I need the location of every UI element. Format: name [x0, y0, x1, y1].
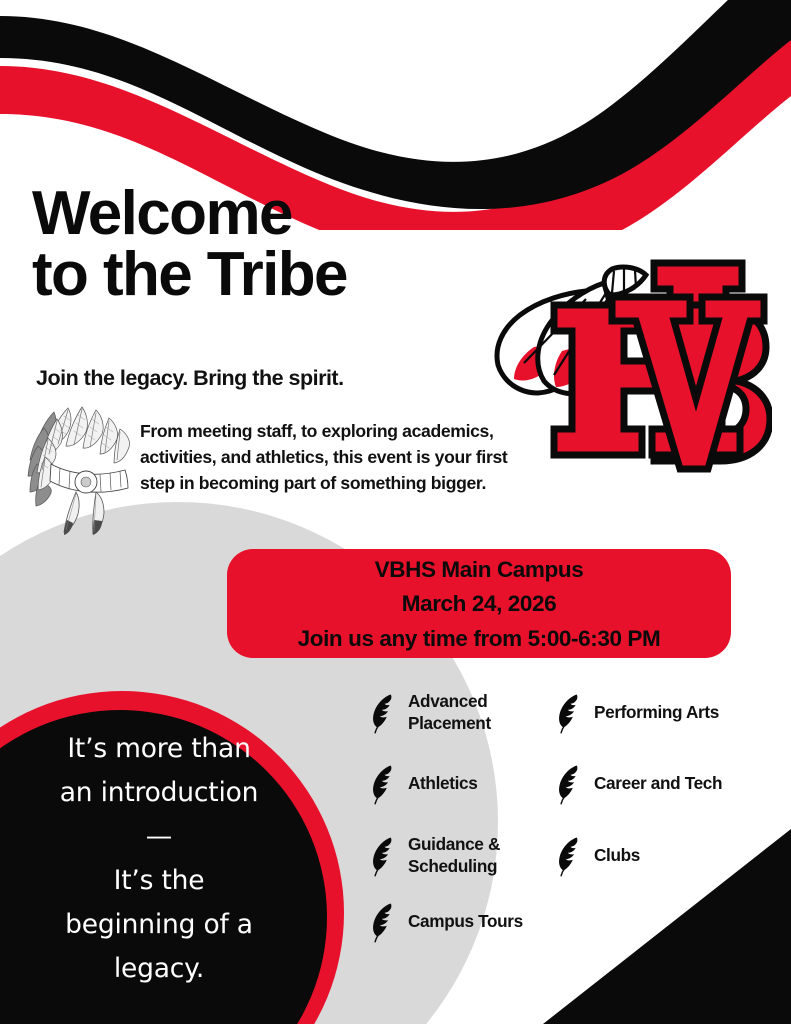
- body-paragraph: From meeting staff, to exploring academi…: [140, 419, 540, 497]
- feature-label: Performing Arts: [594, 702, 719, 724]
- quote-line-1: It’s more than: [0, 727, 324, 771]
- feature-item-athletics: Athletics: [370, 748, 556, 820]
- feature-label: Campus Tours: [408, 911, 523, 933]
- quote-line-2: an introduction: [0, 771, 324, 815]
- feather-icon: [556, 835, 586, 877]
- feature-row: Campus Tours: [370, 892, 782, 952]
- quote-line-4: beginning of a: [0, 903, 324, 947]
- event-time: Join us any time from 5:00-6:30 PM: [298, 622, 661, 656]
- page-title-line-2: to the Tribe: [32, 244, 347, 305]
- page-title-line-1: Welcome: [32, 183, 347, 244]
- feather-icon: [370, 692, 400, 734]
- tagline: Join the legacy. Bring the spirit.: [36, 366, 344, 391]
- feature-item-performing-arts: Performing Arts: [556, 678, 768, 748]
- quote-dash: —: [0, 815, 324, 859]
- page-title: Welcome to the Tribe: [32, 183, 347, 306]
- war-bonnet-headdress-icon: [24, 402, 142, 537]
- feature-label: Clubs: [594, 845, 640, 867]
- quote-line-5: legacy.: [0, 947, 324, 991]
- feature-label-line-2: Placement: [408, 713, 491, 733]
- event-banner: VBHS Main Campus March 24, 2026 Join us …: [227, 549, 731, 658]
- feature-label: Career and Tech: [594, 773, 722, 795]
- feather-icon: [556, 692, 586, 734]
- feather-icon: [370, 835, 400, 877]
- feature-row: Athletics Career and Tech: [370, 748, 782, 820]
- vbhs-monogram-logo: [494, 243, 772, 488]
- quote-text: It’s more than an introduction — It’s th…: [0, 727, 324, 991]
- feature-row-spacer: [556, 892, 768, 952]
- feature-item-clubs: Clubs: [556, 820, 768, 892]
- feature-label: Advanced Placement: [408, 691, 491, 734]
- feature-label-line-2: Scheduling: [408, 856, 497, 876]
- feature-item-career-and-tech: Career and Tech: [556, 748, 768, 820]
- feature-label-line-1: Advanced: [408, 691, 487, 711]
- feature-item-campus-tours: Campus Tours: [370, 892, 556, 952]
- feature-row: Guidance & Scheduling Clubs: [370, 820, 782, 892]
- feather-icon: [370, 901, 400, 943]
- feature-item-advanced-placement: Advanced Placement: [370, 678, 556, 748]
- feature-label-line-1: Guidance &: [408, 834, 500, 854]
- feature-list: Advanced Placement Performing Arts Athle…: [370, 678, 782, 952]
- feature-row: Advanced Placement Performing Arts: [370, 678, 782, 748]
- feather-icon: [370, 763, 400, 805]
- feature-label: Guidance & Scheduling: [408, 834, 500, 877]
- feather-icon: [556, 763, 586, 805]
- event-location: VBHS Main Campus: [375, 553, 584, 587]
- event-date: March 24, 2026: [402, 587, 557, 621]
- flyer-page: { "colors": { "red": "#E8112B", "black":…: [0, 0, 791, 1024]
- feature-label: Athletics: [408, 773, 477, 795]
- quote-line-3: It’s the: [0, 859, 324, 903]
- feature-item-guidance-and-scheduling: Guidance & Scheduling: [370, 820, 556, 892]
